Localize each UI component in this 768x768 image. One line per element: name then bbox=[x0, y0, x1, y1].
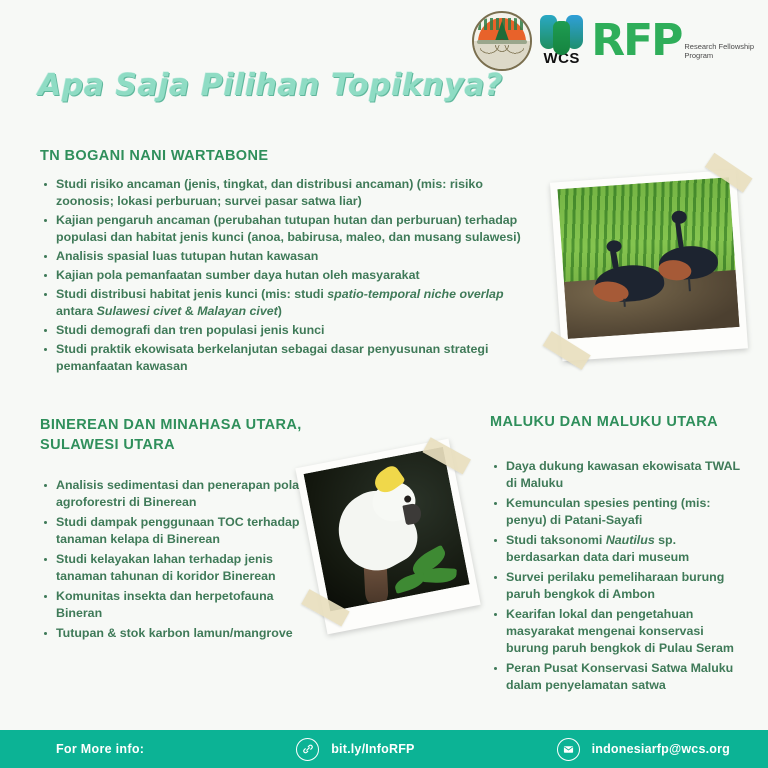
footer-mail-text[interactable]: indonesiarfp@wcs.org bbox=[592, 742, 730, 756]
list-item: Kearifan lokal dan pengetahuan masyaraka… bbox=[490, 606, 742, 657]
wcs-drops bbox=[542, 15, 581, 49]
poster-canvas: WCS RFP Research Fellowship Program Apa … bbox=[0, 0, 768, 768]
list-item: Studi distribusi habitat jenis kunci (mi… bbox=[40, 286, 530, 320]
section-heading-binerean: BINEREAN DAN MINAHASA UTARA, SULAWESI UT… bbox=[40, 415, 308, 455]
footer-link-group[interactable]: bit.ly/InfoRFP bbox=[296, 738, 414, 761]
topic-list-binerean: Analisis sedimentasi dan penerapan pola … bbox=[40, 477, 308, 642]
list-item: Studi praktik ekowisata berkelanjutan se… bbox=[40, 341, 530, 375]
emblem-water bbox=[477, 40, 527, 44]
bird-leg bbox=[624, 299, 627, 307]
section-binerean: BINEREAN DAN MINAHASA UTARA, SULAWESI UT… bbox=[40, 415, 308, 645]
list-item: Studi demografi dan tren populasi jenis … bbox=[40, 322, 530, 339]
list-item: Komunitas insekta dan herpetofauna Biner… bbox=[40, 588, 308, 622]
kemenlhk-emblem-icon bbox=[472, 11, 532, 71]
cockatoo-scene bbox=[304, 447, 470, 612]
list-item: Studi taksonomi Nautilus sp. berdasarkan… bbox=[490, 532, 742, 566]
cockatoo-bird-photo bbox=[295, 439, 480, 635]
rfp-wordmark: RFP bbox=[591, 20, 681, 62]
rfp-subtitle: Research Fellowship Program bbox=[684, 42, 754, 60]
link-icon bbox=[296, 738, 319, 761]
leaf bbox=[393, 572, 427, 595]
cockatoo-beak bbox=[402, 503, 422, 525]
list-item: Peran Pusat Konservasi Satwa Maluku dala… bbox=[490, 660, 742, 694]
list-item: Survei perilaku pemeliharaan burung paru… bbox=[490, 569, 742, 603]
section-maluku: MALUKU DAN MALUKU UTARA Daya dukung kawa… bbox=[490, 412, 742, 697]
list-item: Analisis spasial luas tutupan hutan kawa… bbox=[40, 248, 530, 265]
logo-bar: WCS RFP Research Fellowship Program bbox=[472, 12, 754, 70]
list-item: Kajian pengaruh ancaman (perubahan tutup… bbox=[40, 212, 530, 246]
emblem-roots bbox=[480, 45, 524, 67]
list-item: Studi risiko ancaman (jenis, tingkat, da… bbox=[40, 176, 530, 210]
maleo-photo-frame bbox=[557, 177, 739, 339]
maleo-scene bbox=[557, 177, 739, 339]
maleo-bird-photo bbox=[550, 170, 748, 362]
list-item: Analisis sedimentasi dan penerapan pola … bbox=[40, 477, 308, 511]
cockatoo-eye bbox=[403, 495, 411, 503]
section-heading-bogani: TN BOGANI NANI WARTABONE bbox=[40, 146, 530, 166]
footer-mail-group[interactable]: indonesiarfp@wcs.org bbox=[557, 738, 730, 761]
footer-label: For More info: bbox=[56, 742, 144, 756]
envelope-icon bbox=[557, 738, 580, 761]
page-title: Apa Saja Pilihan Topiknya? bbox=[38, 68, 503, 103]
wcs-logo-icon: WCS bbox=[542, 15, 581, 67]
section-bogani: TN BOGANI NANI WARTABONE Studi risiko an… bbox=[40, 146, 530, 377]
rfp-logo-icon: RFP Research Fellowship Program bbox=[591, 20, 754, 62]
emblem-tree bbox=[495, 21, 509, 41]
footer-link-text[interactable]: bit.ly/InfoRFP bbox=[331, 742, 414, 756]
wcs-drop-2 bbox=[553, 21, 570, 55]
topic-list-bogani: Studi risiko ancaman (jenis, tingkat, da… bbox=[40, 176, 530, 375]
topic-list-maluku: Daya dukung kawasan ekowisata TWAL di Ma… bbox=[490, 458, 742, 694]
list-item: Studi kelayakan lahan terhadap jenis tan… bbox=[40, 551, 308, 585]
list-item: Kemunculan spesies penting (mis: penyu) … bbox=[490, 495, 742, 529]
section-heading-maluku: MALUKU DAN MALUKU UTARA bbox=[490, 412, 742, 432]
cockatoo-photo-frame bbox=[304, 447, 470, 612]
list-item: Tutupan & stok karbon lamun/mangrove bbox=[40, 625, 308, 642]
footer-bar: For More info: bit.ly/InfoRFP indonesiar… bbox=[0, 730, 768, 768]
list-item: Studi dampak penggunaan TOC terhadap tan… bbox=[40, 514, 308, 548]
list-item: Kajian pola pemanfaatan sumber daya huta… bbox=[40, 267, 530, 284]
list-item: Daya dukung kawasan ekowisata TWAL di Ma… bbox=[490, 458, 742, 492]
